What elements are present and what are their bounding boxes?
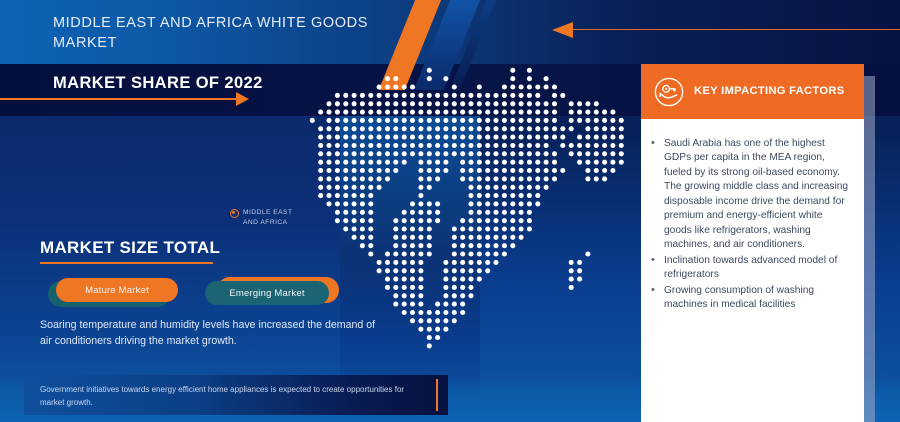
arrow-head-left-icon bbox=[552, 22, 573, 38]
pill-emerging-market-label: Emerging Market bbox=[205, 281, 329, 305]
location-ring-icon bbox=[230, 209, 239, 218]
hand-holding-coin-icon bbox=[653, 76, 685, 108]
map-marker: MIDDLE EAST AND AFRICA bbox=[230, 208, 292, 227]
map-marker-label: MIDDLE EAST AND AFRICA bbox=[243, 208, 292, 227]
list-item: Saudi Arabia has one of the highest GDPs… bbox=[651, 137, 850, 253]
list-item: Growing consumption of washing machines … bbox=[651, 284, 850, 313]
bottom-banner-accent bbox=[436, 379, 438, 411]
key-impacting-factors-panel: KEY IMPACTING FACTORS Saudi Arabia has o… bbox=[641, 64, 864, 422]
bottom-banner-text: Government initiatives towards energy ef… bbox=[40, 384, 420, 410]
pill-mature-market[interactable]: Mature Market bbox=[48, 276, 178, 308]
market-share-title: MARKET SHARE OF 2022 bbox=[53, 74, 263, 93]
key-panel-title: KEY IMPACTING FACTORS bbox=[694, 85, 845, 98]
pill-emerging-market[interactable]: Emerging Market bbox=[195, 276, 345, 308]
pill-mature-market-label: Mature Market bbox=[56, 278, 178, 302]
key-factors-list: Saudi Arabia has one of the highest GDPs… bbox=[641, 119, 864, 313]
top-right-arrow-line bbox=[572, 29, 900, 30]
market-size-description: Soaring temperature and humidity levels … bbox=[40, 317, 380, 350]
page-title: MIDDLE EAST AND AFRICA WHITE GOODS MARKE… bbox=[53, 14, 393, 53]
list-item: Inclination towards advanced model of re… bbox=[651, 254, 850, 283]
key-panel-header: KEY IMPACTING FACTORS bbox=[641, 64, 864, 119]
market-size-title: MARKET SIZE TOTAL bbox=[40, 238, 220, 258]
market-share-banner: MARKET SHARE OF 2022 bbox=[0, 74, 420, 116]
infographic-canvas: MIDDLE EAST AND AFRICA WHITE GOODS MARKE… bbox=[0, 0, 900, 422]
market-type-pills: Mature Market Emerging Market bbox=[48, 276, 368, 308]
arrow-line-right bbox=[0, 98, 236, 100]
key-panel-body: Saudi Arabia has one of the highest GDPs… bbox=[641, 119, 864, 422]
arrow-head-right-icon bbox=[236, 92, 249, 106]
market-size-underline bbox=[40, 262, 213, 264]
